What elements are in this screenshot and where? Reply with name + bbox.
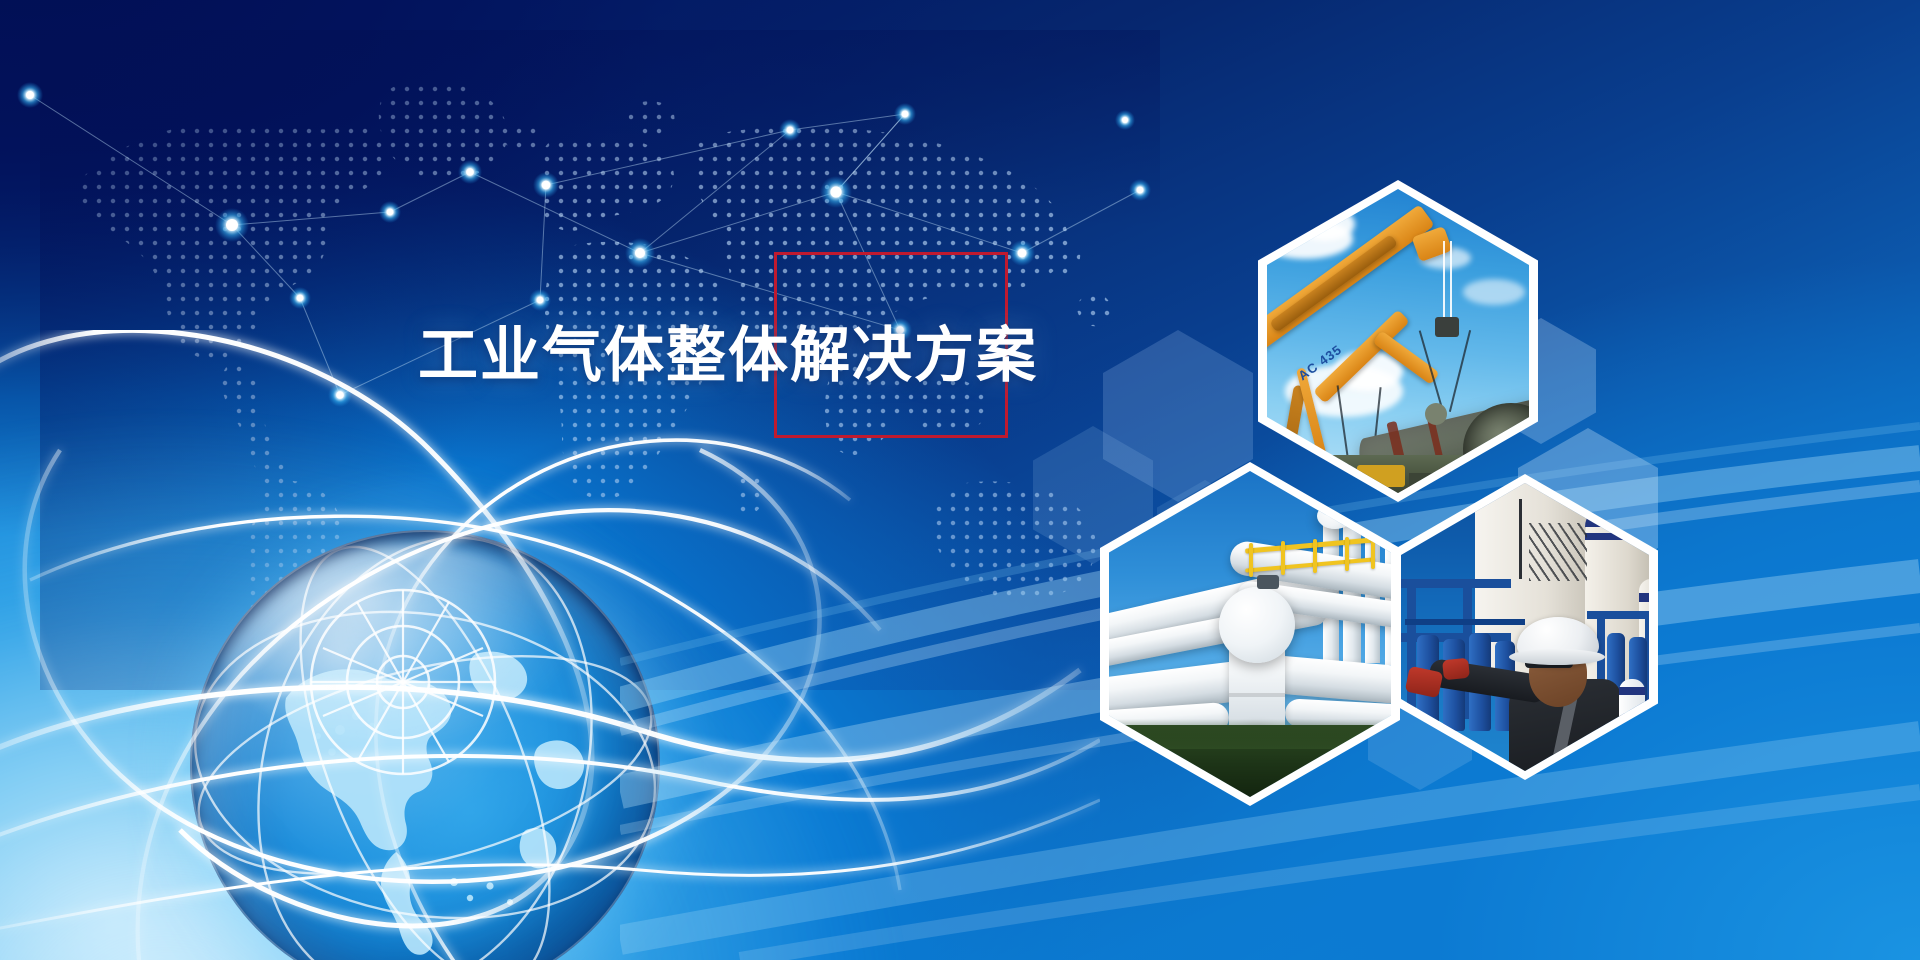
photo-crane-vessel-image: AC 435: [1267, 189, 1529, 493]
photo-worker-image: [1401, 483, 1649, 771]
wireframe-globe: [150, 500, 710, 960]
industrial-gas-banner: AC 435: [0, 0, 1920, 960]
page-title: 工业气体整体解决方案: [418, 326, 1038, 386]
photo-pipelines-image: [1109, 471, 1391, 797]
